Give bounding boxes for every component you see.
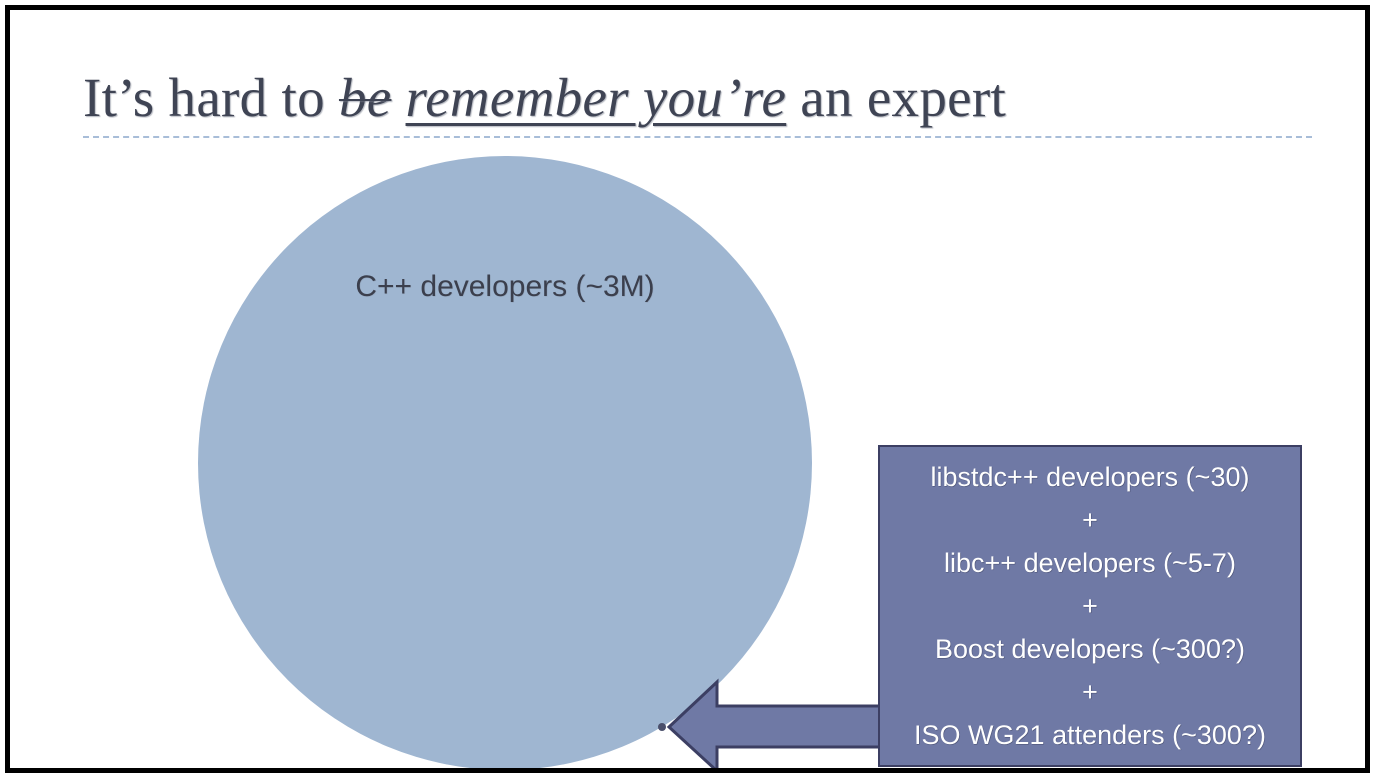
expert-group-box: libstdc++ developers (~30) + libc++ deve… [878,445,1302,767]
left-arrow-icon [665,678,887,768]
expert-line-plus-1: + [1082,499,1098,542]
slide-title-text: It’s hard to be remember you’re an exper… [83,62,1313,134]
expert-line-plus-3: + [1082,671,1098,714]
expert-line-boost: Boost developers (~300?) [935,628,1245,671]
title-divider-rule [83,136,1312,138]
expert-line-wg21: ISO WG21 attenders (~300?) [914,714,1266,757]
title-segment-prefix: It’s hard to [83,67,339,128]
title-segment-suffix: an expert [786,67,1006,128]
title-segment-struck: be [339,67,392,128]
cpp-developers-circle: C++ developers (~3M) [198,156,812,768]
circle-label: C++ developers (~3M) [198,269,812,305]
expert-line-libstdcxx: libstdc++ developers (~30) [931,456,1250,499]
title-segment-space [391,67,405,128]
expert-line-libcxx: libc++ developers (~5-7) [944,542,1236,585]
page-title: It’s hard to be remember you’re an exper… [83,62,1313,138]
title-segment-revised: remember you’re [406,67,787,128]
slide-canvas: It’s hard to be remember you’re an exper… [10,10,1365,768]
expert-line-plus-2: + [1082,585,1098,628]
slide-frame: It’s hard to be remember you’re an exper… [5,5,1370,773]
